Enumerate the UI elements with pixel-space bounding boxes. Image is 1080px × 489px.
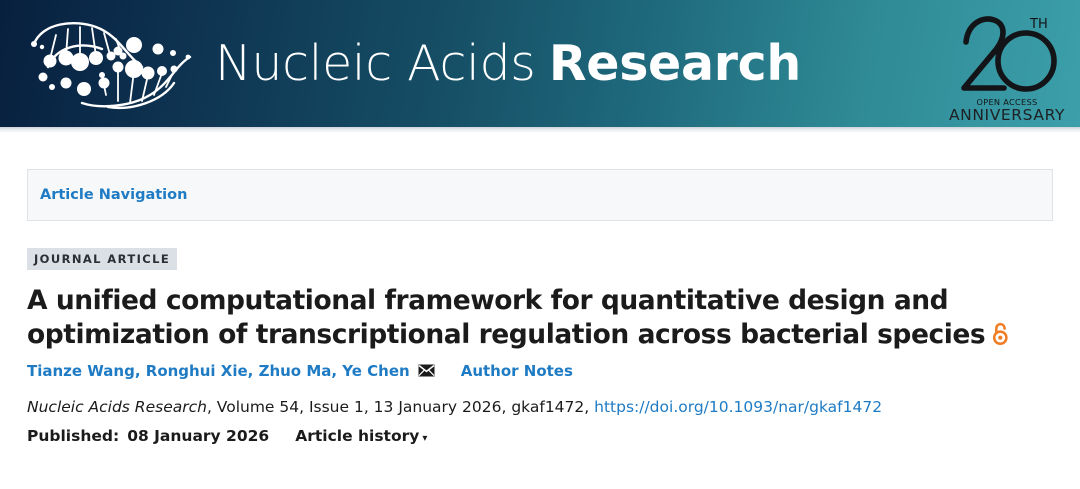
journal-wordmark[interactable]: Nucleic Acids Research	[215, 39, 801, 89]
article-navigation-bar[interactable]: Article Navigation	[27, 169, 1053, 221]
doi-link[interactable]: https://doi.org/10.1093/nar/gkaf1472	[594, 398, 882, 416]
article-content-area: Article Navigation JOURNAL ARTICLE A uni…	[0, 169, 1080, 445]
journal-header-banner: Nucleic Acids Research TH OPEN ACCESS AN…	[0, 0, 1080, 127]
dna-helix-logo[interactable]	[22, 11, 207, 116]
article-header-block: JOURNAL ARTICLE A unified computational …	[27, 248, 1053, 445]
citation-line: Nucleic Acids Research, Volume 54, Issue…	[27, 397, 1053, 418]
author-notes-link[interactable]: Author Notes	[461, 362, 573, 380]
chevron-down-icon: ▾	[422, 433, 427, 444]
citation-journal-name: Nucleic Acids Research	[27, 398, 207, 416]
article-history-label: Article history	[295, 427, 419, 445]
envelope-icon[interactable]	[418, 364, 435, 377]
anniversary-20th-logo: TH OPEN ACCESS ANNIVERSARY	[948, 6, 1066, 122]
published-date: 08 January 2026	[127, 427, 269, 445]
article-type-badge: JOURNAL ARTICLE	[27, 248, 177, 270]
page-title: A unified computational framework for qu…	[27, 284, 1037, 355]
published-line: Published: 08 January 2026 Article histo…	[27, 427, 1053, 445]
article-history-toggle[interactable]: Article history▾	[295, 427, 427, 445]
article-title-text: A unified computational framework for qu…	[27, 285, 985, 350]
wordmark-bold-text: Research	[549, 35, 801, 92]
authors-line: Tianze Wang, Ronghui Xie, Zhuo Ma, Ye Ch…	[27, 362, 1053, 380]
open-access-lock-icon[interactable]	[991, 321, 1010, 355]
author-list-link[interactable]: Tianze Wang, Ronghui Xie, Zhuo Ma, Ye Ch…	[27, 362, 410, 380]
article-navigation-link[interactable]: Article Navigation	[40, 187, 187, 203]
header-bottom-shadow	[0, 127, 1080, 133]
anniversary-ordinal: TH	[1029, 17, 1048, 32]
anniversary-word: ANNIVERSARY	[949, 106, 1065, 122]
citation-details: , Volume 54, Issue 1, 13 January 2026, g…	[207, 398, 594, 416]
published-label: Published:	[27, 427, 119, 445]
wordmark-light-text: Nucleic Acids	[215, 35, 536, 92]
